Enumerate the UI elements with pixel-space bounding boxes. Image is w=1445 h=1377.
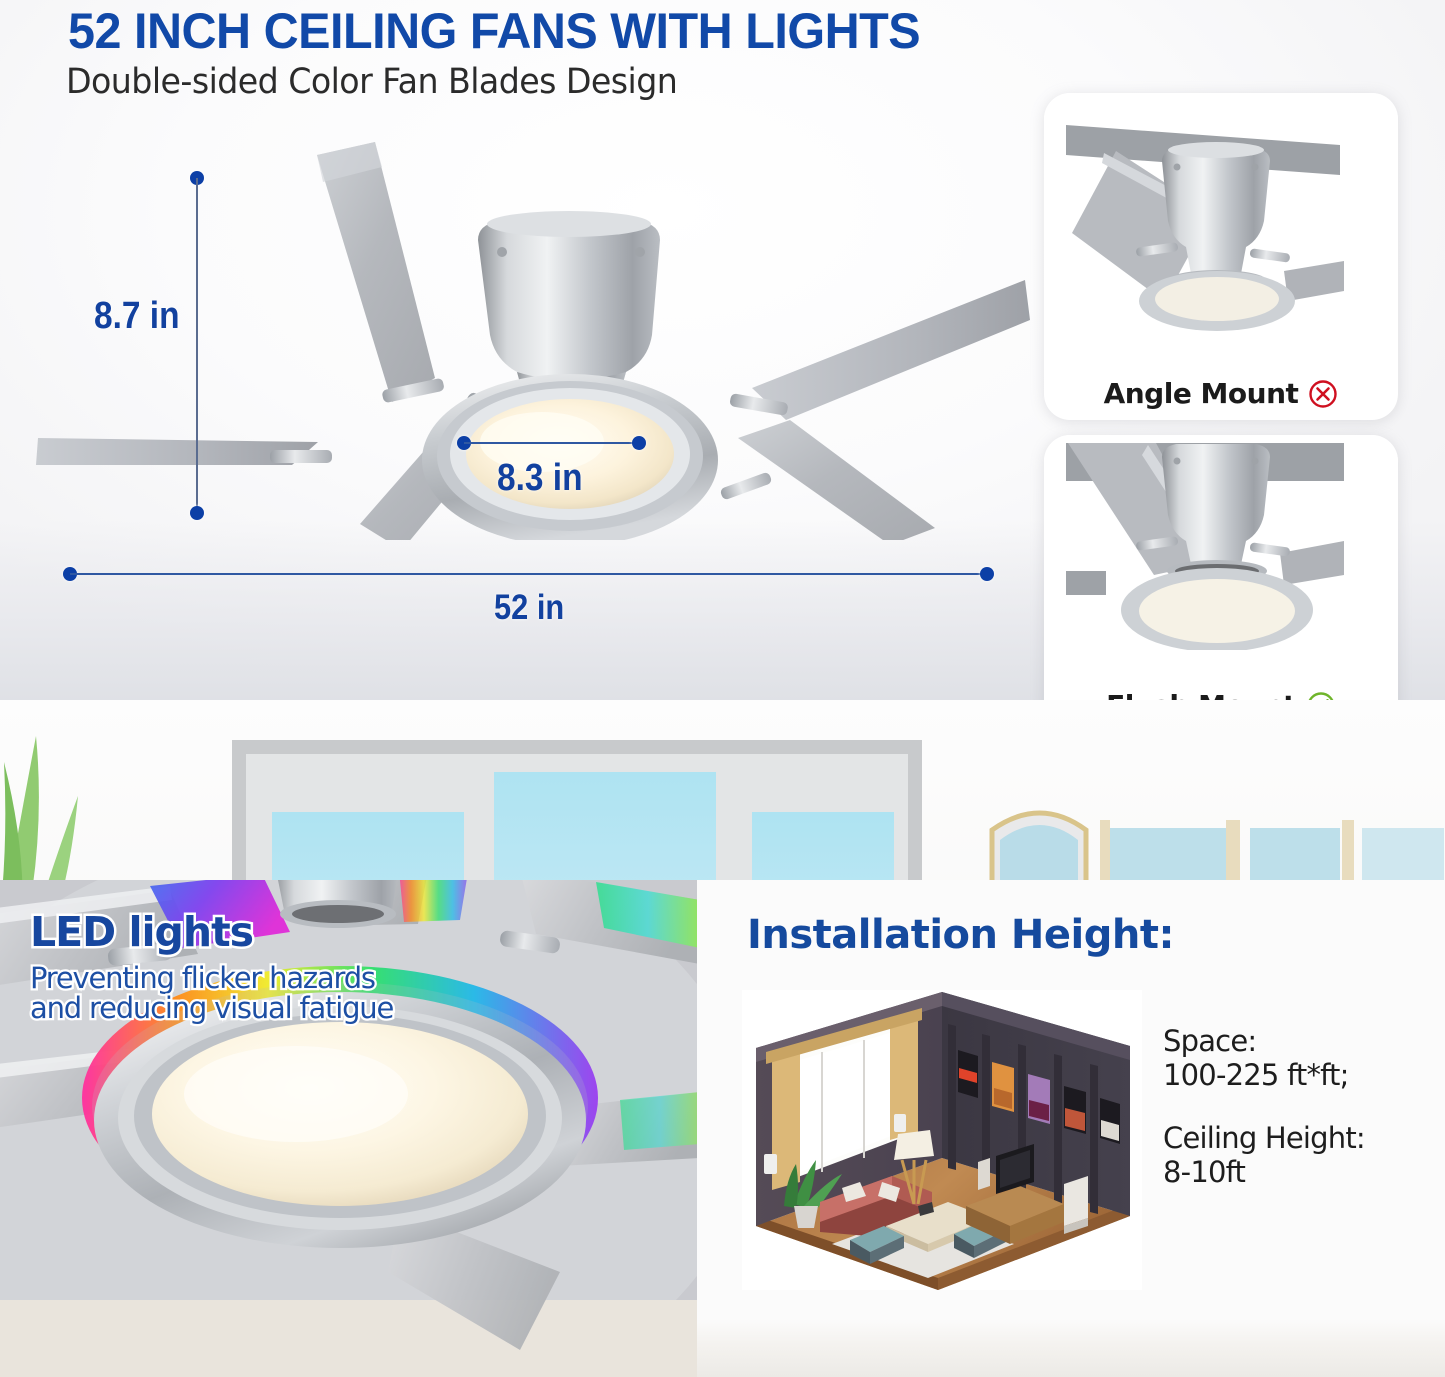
light-dimension-marker-right — [632, 436, 646, 450]
spec-space-value: 100-225 ft*ft; — [1163, 1059, 1433, 1093]
floor-strip — [697, 1319, 1445, 1377]
spec-space-label: Space: — [1163, 1025, 1433, 1059]
dimension-marker-bottom — [190, 506, 204, 520]
dimension-line-vertical — [196, 178, 198, 512]
dimension-line-light — [464, 442, 639, 444]
led-feature-title: LED lights — [30, 908, 253, 956]
dimension-line-span — [70, 573, 985, 575]
page-subtitle: Double-sided Color Fan Blades Design — [66, 62, 677, 102]
installation-title: Installation Height: — [747, 912, 1174, 958]
circle-x-icon — [1308, 379, 1338, 409]
led-feature-description: Preventing flicker hazards and reducing … — [30, 963, 393, 1023]
mount-option-card-angle: Angle Mount — [1044, 93, 1398, 420]
product-dimensions-section: 52 INCH CEILING FANS WITH LIGHTS Double-… — [0, 0, 1445, 700]
flush-mount-photo — [1044, 435, 1398, 650]
installation-height-panel: Installation Height: — [697, 880, 1445, 1377]
circle-check-icon — [1306, 691, 1336, 701]
angle-mount-label: Angle Mount — [1104, 377, 1299, 410]
flush-mount-label-row: Flush Mount — [1044, 689, 1398, 700]
page-title: 52 INCH CEILING FANS WITH LIGHTS — [68, 2, 920, 60]
installation-spec-list: Space: 100-225 ft*ft; Ceiling Height: 8-… — [1163, 1025, 1433, 1220]
span-marker-right — [980, 567, 994, 581]
angle-mount-photo — [1044, 93, 1398, 338]
spec-ceiling-label: Ceiling Height: — [1163, 1122, 1433, 1156]
dimension-label-height: 8.7 in — [94, 295, 179, 338]
angle-mount-label-row: Angle Mount — [1044, 377, 1398, 410]
led-description-line-2: and reducing visual fatigue — [30, 993, 393, 1023]
infographic-page: 52 INCH CEILING FANS WITH LIGHTS Double-… — [0, 0, 1445, 1377]
dimension-label-light-diameter: 8.3 in — [497, 457, 582, 500]
spec-ceiling-height: Ceiling Height: 8-10ft — [1163, 1122, 1433, 1189]
spec-space: Space: 100-225 ft*ft; — [1163, 1025, 1433, 1092]
flush-mount-label: Flush Mount — [1106, 689, 1296, 700]
spec-ceiling-value: 8-10ft — [1163, 1156, 1433, 1190]
led-description-line-1: Preventing flicker hazards — [30, 963, 393, 993]
led-feature-panel: LED lights Preventing flicker hazards an… — [0, 880, 697, 1377]
dimension-label-span: 52 in — [494, 588, 564, 628]
mount-option-card-flush: Flush Mount — [1044, 435, 1398, 700]
isometric-room-render — [742, 990, 1142, 1290]
